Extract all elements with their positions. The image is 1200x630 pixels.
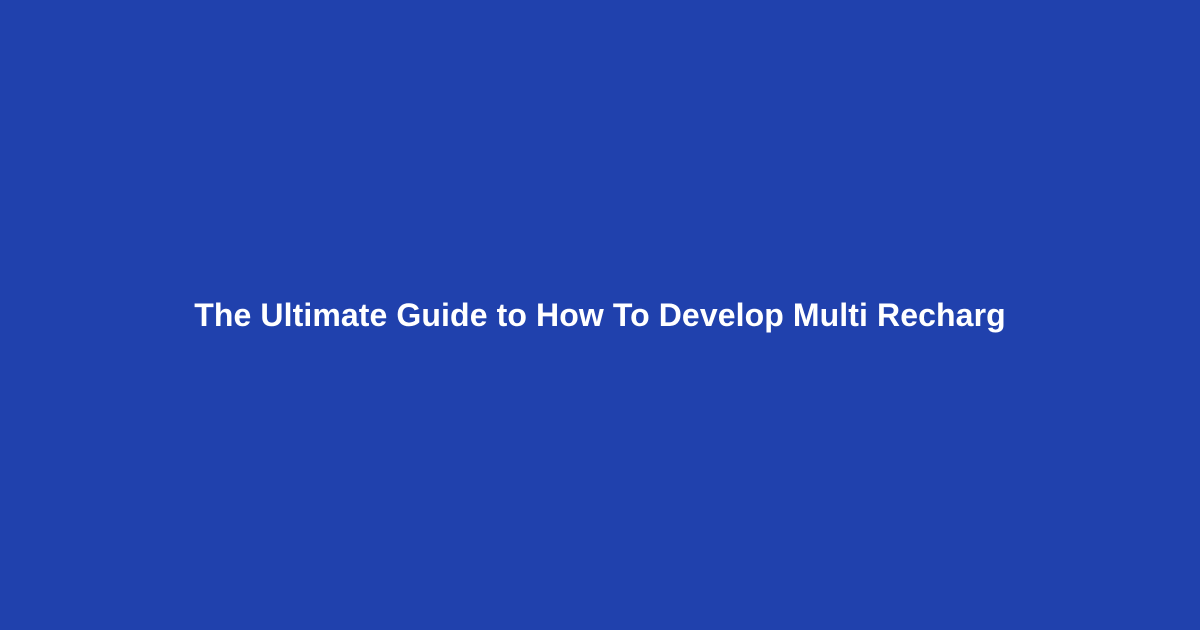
- title-container: The Ultimate Guide to How To Develop Mul…: [0, 295, 1200, 335]
- page-title: The Ultimate Guide to How To Develop Mul…: [194, 295, 1006, 335]
- social-preview-card: The Ultimate Guide to How To Develop Mul…: [0, 0, 1200, 630]
